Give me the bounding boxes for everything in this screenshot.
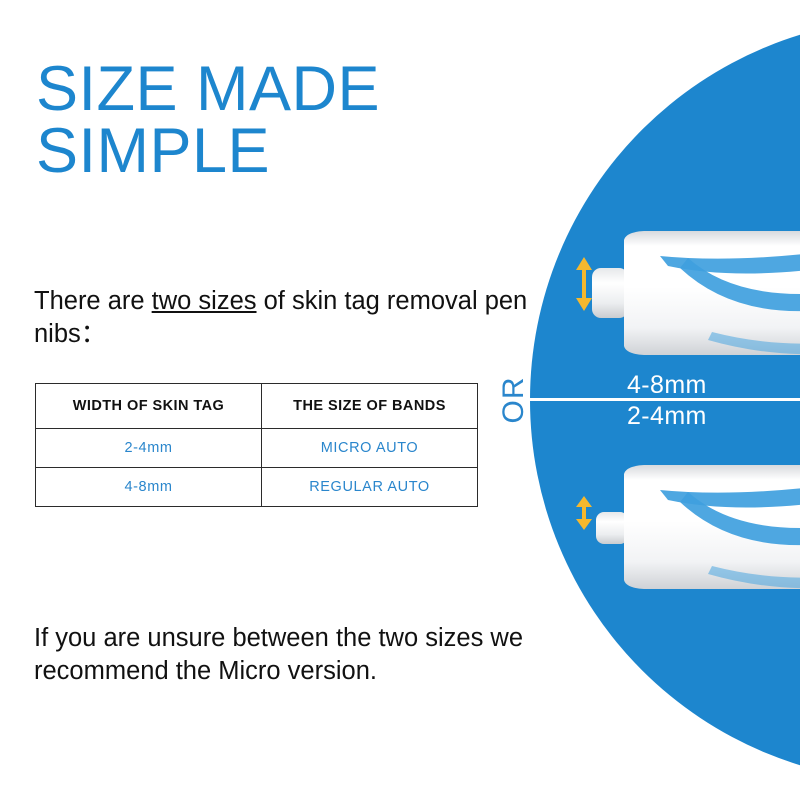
table-cell-width-micro: 2-4mm xyxy=(36,429,262,468)
size-label-lower: 2-4mm xyxy=(627,402,707,431)
table-header-bands: THE SIZE OF BANDS xyxy=(262,384,478,429)
measurement-arrow-micro-icon xyxy=(573,496,595,535)
table-header-row: WIDTH OF SKIN TAG THE SIZE OF BANDS xyxy=(36,384,478,429)
pen-device-regular-illustration xyxy=(592,228,800,358)
page-title-line-1: SIZE MADE xyxy=(36,58,506,120)
infographic-canvas: SIZE MADE SIMPLE There are two sizes of … xyxy=(0,0,800,800)
size-table: WIDTH OF SKIN TAG THE SIZE OF BANDS 2-4m… xyxy=(35,383,478,507)
table-cell-band-micro: MICRO AUTO xyxy=(262,429,478,468)
pen-device-micro-illustration xyxy=(592,462,800,592)
table-cell-band-regular: REGULAR AUTO xyxy=(262,468,478,507)
closing-paragraph: If you are unsure between the two sizes … xyxy=(34,622,524,688)
page-title: SIZE MADE SIMPLE xyxy=(36,58,506,183)
intro-text-emphasis: two sizes xyxy=(152,287,257,315)
intro-paragraph: There are two sizes of skin tag removal … xyxy=(34,285,534,350)
size-label-upper: 4-8mm xyxy=(627,371,707,400)
table-row: 2-4mm MICRO AUTO xyxy=(36,429,478,468)
table-row: 4-8mm REGULAR AUTO xyxy=(36,468,478,507)
measurement-arrow-regular-icon xyxy=(573,257,595,316)
table-header-width: WIDTH OF SKIN TAG xyxy=(36,384,262,429)
intro-text-before: There are xyxy=(34,287,152,315)
page-title-line-2: SIMPLE xyxy=(36,120,506,182)
or-label: OR xyxy=(486,372,542,428)
table-cell-width-regular: 4-8mm xyxy=(36,468,262,507)
